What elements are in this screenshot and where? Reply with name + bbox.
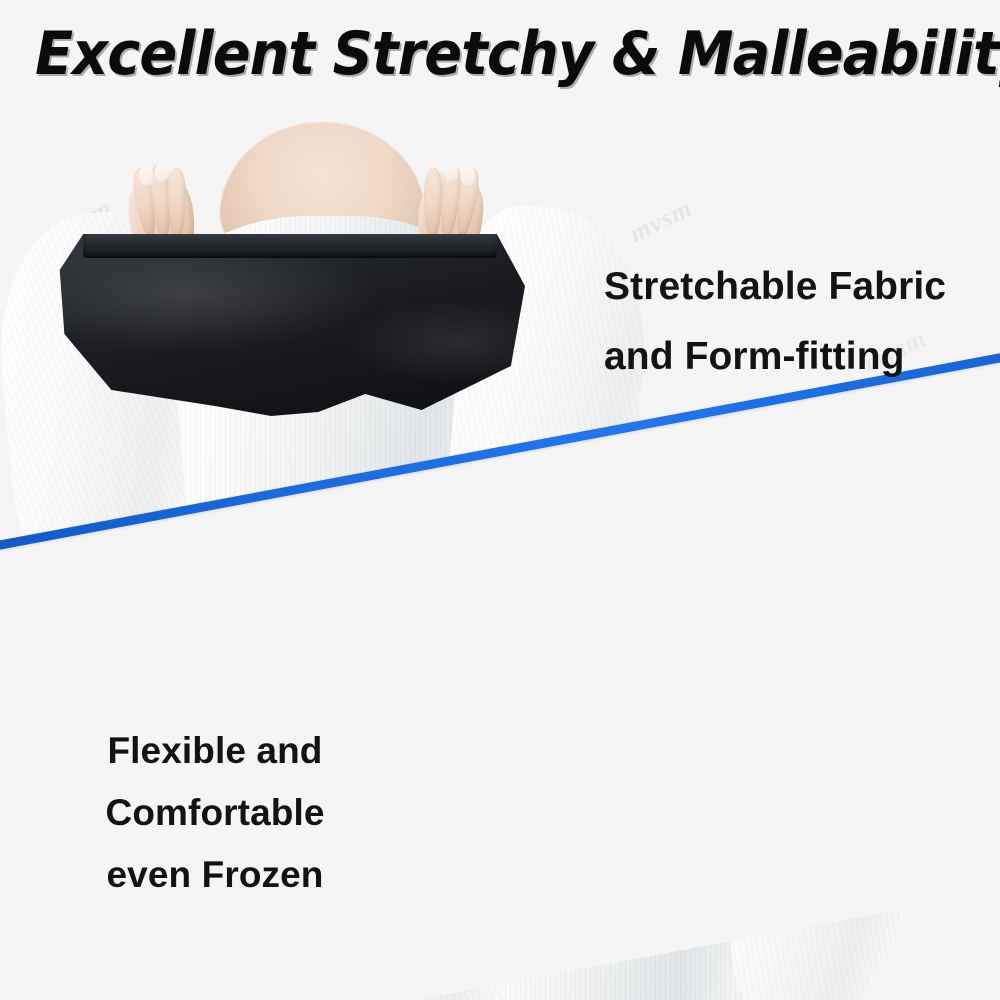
top-panel-caption: Stretchable Fabric and Form-fitting (604, 252, 946, 392)
fabric-hem-fold-1 (102, 242, 478, 245)
fabric-hem-fold-2 (111, 254, 468, 257)
product-feature-poster: mvsm mvsm mvsm mvsm mvsm mvsm mvsm mvsm … (0, 0, 1000, 1000)
fabric-sheen-top (55, 218, 525, 418)
page-title: Excellent Stretchy & Malleability (35, 22, 965, 86)
bottom-panel-caption: Flexible and Comfortable even Frozen (60, 720, 370, 906)
caption-line: Stretchable Fabric (604, 252, 946, 322)
caption-line: even Frozen (60, 844, 370, 906)
black-fabric-wrap-stretched (55, 218, 525, 418)
left-hand-nail-2 (154, 161, 170, 181)
caption-line: and Form-fitting (604, 322, 946, 392)
caption-line: Comfortable (60, 782, 370, 844)
caption-line: Flexible and (60, 720, 370, 782)
